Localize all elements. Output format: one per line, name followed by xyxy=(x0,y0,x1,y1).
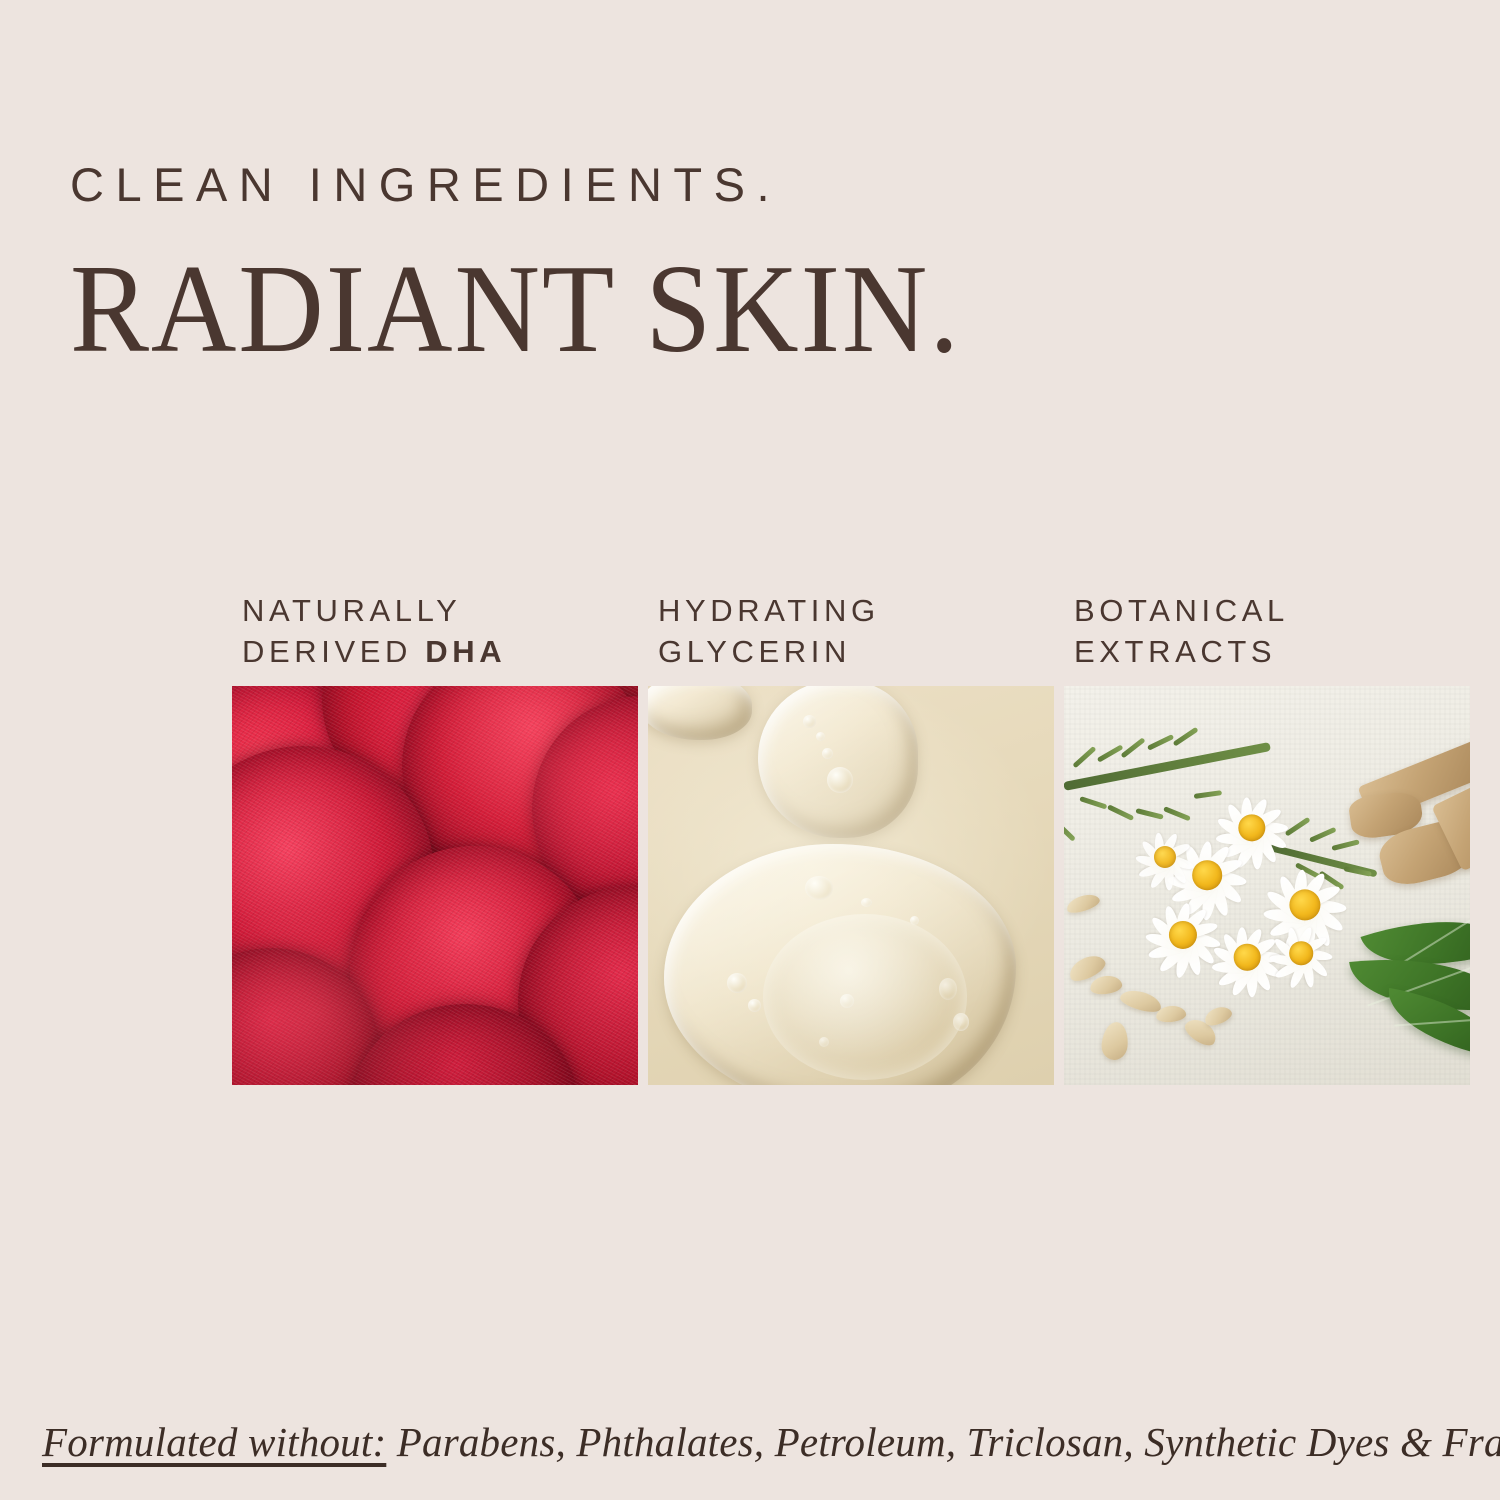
gel-bubble xyxy=(953,1013,969,1031)
gel-bubble xyxy=(827,767,853,793)
ingredient-label-line2: EXTRACTS xyxy=(1074,634,1276,669)
excluded-ingredients-list: Parabens, Phthalates, Petroleum, Triclos… xyxy=(386,1419,1500,1465)
gel-droplet xyxy=(664,844,1016,1085)
glycerin-gel-photo xyxy=(648,686,1054,1085)
ingredient-label-line1: HYDRATING xyxy=(658,593,880,628)
eyebrow-text: CLEAN INGREDIENTS. xyxy=(70,160,1430,209)
headline-block: CLEAN INGREDIENTS. RADIANT SKIN. xyxy=(70,160,1430,373)
gel-bubble xyxy=(727,973,747,993)
formulated-without-note: Formulated without: Parabens, Phthalates… xyxy=(42,1418,1500,1466)
ingredient-column-dha: NATURALLY DERIVED DHA xyxy=(232,590,638,1085)
gel-bubble xyxy=(805,876,833,900)
gel-bubble xyxy=(816,732,825,741)
ingredient-column-glycerin: HYDRATING GLYCERIN xyxy=(648,590,1054,1085)
gel-bubble xyxy=(910,916,919,925)
gel-bubble xyxy=(840,994,854,1008)
chamomile-flower xyxy=(1270,922,1332,984)
gel-bubble xyxy=(803,715,816,728)
ingredient-column-botanical: BOTANICAL EXTRACTS xyxy=(1064,590,1470,1085)
ingredient-label-botanical: BOTANICAL EXTRACTS xyxy=(1064,590,1470,686)
ingredient-label-emphasis: DHA xyxy=(425,634,506,669)
page-title: RADIANT SKIN. xyxy=(70,247,1348,373)
gel-droplet xyxy=(758,686,918,838)
gel-droplet xyxy=(648,686,752,740)
ingredient-label-line2: GLYCERIN xyxy=(658,634,851,669)
chamomile-flower xyxy=(1146,898,1220,972)
gel-bubble xyxy=(939,978,957,1000)
botanical-extracts-photo xyxy=(1064,686,1470,1085)
gel-bubble xyxy=(822,748,833,759)
gel-bubble xyxy=(861,898,872,907)
gel-bubble xyxy=(748,999,761,1012)
gel-bubble xyxy=(819,1037,829,1047)
ingredient-columns: NATURALLY DERIVED DHA HYDRATING GLYCERIN xyxy=(232,590,1472,1085)
chamomile-flower xyxy=(1136,828,1194,886)
ingredient-label-line1: NATURALLY xyxy=(242,593,461,628)
ingredient-label-line2: DERIVED xyxy=(242,634,425,669)
ingredient-infographic: CLEAN INGREDIENTS. RADIANT SKIN. NATURAL… xyxy=(0,0,1500,1500)
ingredient-label-line1: BOTANICAL xyxy=(1074,593,1289,628)
beet-slices-photo xyxy=(232,686,638,1085)
ingredient-label-glycerin: HYDRATING GLYCERIN xyxy=(648,590,1054,686)
ingredient-label-dha: NATURALLY DERIVED DHA xyxy=(232,590,638,686)
formulated-without-label: Formulated without: xyxy=(42,1419,386,1465)
